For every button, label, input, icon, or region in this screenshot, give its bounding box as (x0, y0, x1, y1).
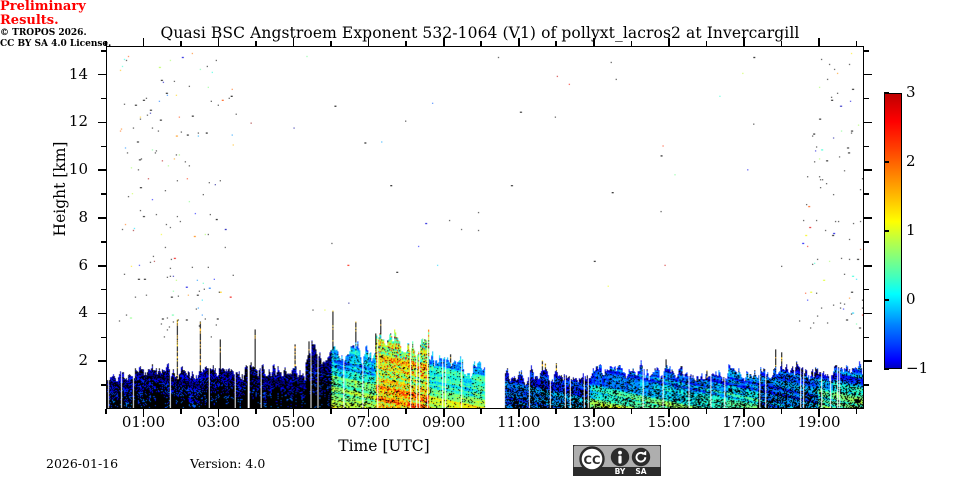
x-axis-tick-minor (706, 409, 708, 414)
x-axis-tick-label: 01:00 (104, 415, 184, 430)
y-axis-tick-label: 14 (28, 67, 88, 82)
y-axis-tick (98, 217, 106, 219)
x-axis-tick (743, 409, 745, 417)
figure-root: Quasi BSC Angstroem Exponent 532-1064 (V… (0, 0, 960, 480)
y-axis-tick-minor-right (864, 98, 869, 100)
colorbar-tick (884, 368, 889, 369)
x-axis-tick (818, 409, 820, 417)
cc-by-sa-license-icon: CC BY SA (573, 445, 661, 476)
y-axis-tick-minor-right (864, 50, 869, 52)
y-axis-tick-right (864, 313, 872, 315)
x-axis-tick-minor (255, 409, 257, 414)
y-axis-tick-minor-right (864, 289, 869, 291)
y-axis-tick-minor-right (864, 241, 869, 243)
x-axis-tick-minor (781, 409, 783, 414)
y-axis-tick-right (864, 122, 872, 124)
x-axis-tick-label: 03:00 (179, 415, 259, 430)
x-axis-tick-label: 13:00 (554, 415, 634, 430)
y-axis-tick-right (864, 265, 872, 267)
y-axis-tick-right (864, 217, 872, 219)
x-axis-tick-label: 05:00 (254, 415, 334, 430)
x-axis-tick-minor (330, 409, 332, 414)
colorbar-tick (884, 230, 889, 231)
x-axis-tick-minor (405, 409, 407, 414)
x-axis-tick-label: 17:00 (704, 415, 784, 430)
x-axis-tick-label: 19:00 (779, 415, 859, 430)
y-axis-tick-minor-right (864, 146, 869, 148)
x-axis-tick (143, 409, 145, 417)
x-axis-tick (593, 409, 595, 417)
cc-sa-label: SA (635, 467, 646, 476)
y-axis-tick (98, 169, 106, 171)
colorbar-tick-label: −1 (906, 361, 928, 376)
colorbar-tick (884, 161, 889, 162)
y-axis-tick-label: 4 (28, 305, 88, 320)
y-axis-tick (98, 74, 106, 76)
y-axis-tick-minor-right (864, 337, 869, 339)
y-axis-tick-minor-right (864, 384, 869, 386)
x-axis-tick-label: 09:00 (404, 415, 484, 430)
x-axis-tick-label: 11:00 (479, 415, 559, 430)
y-axis-tick (98, 360, 106, 362)
y-axis-label: Height [km] (51, 89, 69, 289)
x-axis-tick-minor (856, 409, 858, 414)
page-title: Quasi BSC Angstroem Exponent 532-1064 (V… (0, 24, 960, 42)
x-axis-tick (293, 409, 295, 417)
colorbar-tick-label: 1 (906, 223, 916, 238)
y-axis-tick-label: 2 (28, 353, 88, 368)
y-axis-tick (98, 122, 106, 124)
colorbar-tick-label: 3 (906, 85, 916, 100)
x-axis-tick (443, 409, 445, 417)
colorbar-tick-label: 0 (906, 292, 916, 307)
preliminary-line-1: Preliminary (0, 0, 960, 14)
y-axis-tick (98, 265, 106, 267)
colorbar-tick (884, 92, 889, 93)
y-axis-tick-right (864, 169, 872, 171)
y-axis-tick-right (864, 360, 872, 362)
colorbar-tick-label: 2 (906, 154, 916, 169)
x-axis-tick (368, 409, 370, 417)
heatmap-canvas (107, 47, 863, 408)
colorbar-tick (884, 299, 889, 300)
x-axis-tick-minor (631, 409, 633, 414)
heatmap-plot-area (106, 46, 864, 409)
y-axis-tick-right (864, 74, 872, 76)
x-axis-tick (668, 409, 670, 417)
x-axis-tick (218, 409, 220, 417)
date-text: 2026-01-16 (46, 456, 118, 471)
svg-text:CC: CC (584, 453, 601, 467)
x-axis-tick (518, 409, 520, 417)
x-axis-tick-label: 15:00 (629, 415, 709, 430)
cc-by-label: BY (615, 467, 626, 476)
y-axis-tick (98, 313, 106, 315)
x-axis-tick-minor (555, 409, 557, 414)
version-text: Version: 4.0 (190, 456, 265, 471)
x-axis-tick-minor (480, 409, 482, 414)
x-axis-tick-label: 07:00 (329, 415, 409, 430)
x-axis-tick-minor (105, 409, 107, 414)
x-axis-tick-minor (180, 409, 182, 414)
y-axis-tick-minor-right (864, 193, 869, 195)
